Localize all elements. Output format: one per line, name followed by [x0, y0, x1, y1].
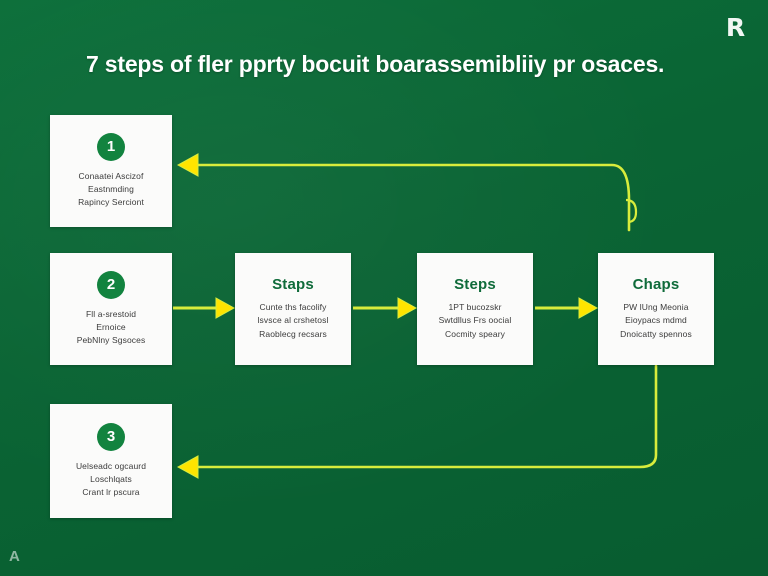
step-number-badge: 3 [97, 423, 125, 451]
arrow-card6-to-card3-feedback [178, 366, 656, 478]
step-card-4[interactable]: Staps Cunte ths facolify lsvsce al crshe… [235, 253, 351, 365]
arrow-card2-to-card4 [173, 298, 234, 318]
step-card-3[interactable]: 3 Uelseadc ogcaurd Loschlqats Crant lr p… [50, 404, 172, 518]
page-title: 7 steps of fler pprty bocuit boarassemib… [86, 51, 726, 79]
arrow-card6-to-card1-feedback [178, 154, 636, 230]
step-card-body: Cunte ths facolify lsvsce al crshetosl R… [258, 301, 329, 341]
step-card-heading: Chaps [633, 277, 680, 292]
corner-watermark: A [9, 549, 20, 564]
step-card-heading: Steps [454, 277, 496, 292]
brand-logo-icon: R [720, 12, 750, 42]
step-card-5[interactable]: Steps 1PT bucozskr Swtdllus Frs oocial C… [417, 253, 533, 365]
step-card-body: PW lUng Meonia Eioypacs mdmd Dnoicatty s… [620, 301, 692, 341]
step-card-body: Fll a-srestoid Ernoice PebNlny Sgsoces [77, 308, 146, 348]
step-card-body: Conaatei Ascizof Eastnmding Rapincy Serc… [78, 170, 144, 210]
step-number-badge: 2 [97, 271, 125, 299]
step-card-2[interactable]: 2 Fll a-srestoid Ernoice PebNlny Sgsoces [50, 253, 172, 365]
step-card-6[interactable]: Chaps PW lUng Meonia Eioypacs mdmd Dnoic… [598, 253, 714, 365]
step-card-body: 1PT bucozskr Swtdllus Frs oocial Cocmity… [439, 301, 512, 341]
arrow-card4-to-card5 [353, 298, 416, 318]
step-card-1[interactable]: 1 Conaatei Ascizof Eastnmding Rapincy Se… [50, 115, 172, 227]
step-card-heading: Staps [272, 277, 314, 292]
slide-canvas: R A 7 steps of fler pprty bocuit boarass… [0, 0, 768, 576]
step-number-badge: 1 [97, 133, 125, 161]
step-card-body: Uelseadc ogcaurd Loschlqats Crant lr psc… [76, 460, 146, 500]
arrow-card5-to-card6 [535, 298, 597, 318]
